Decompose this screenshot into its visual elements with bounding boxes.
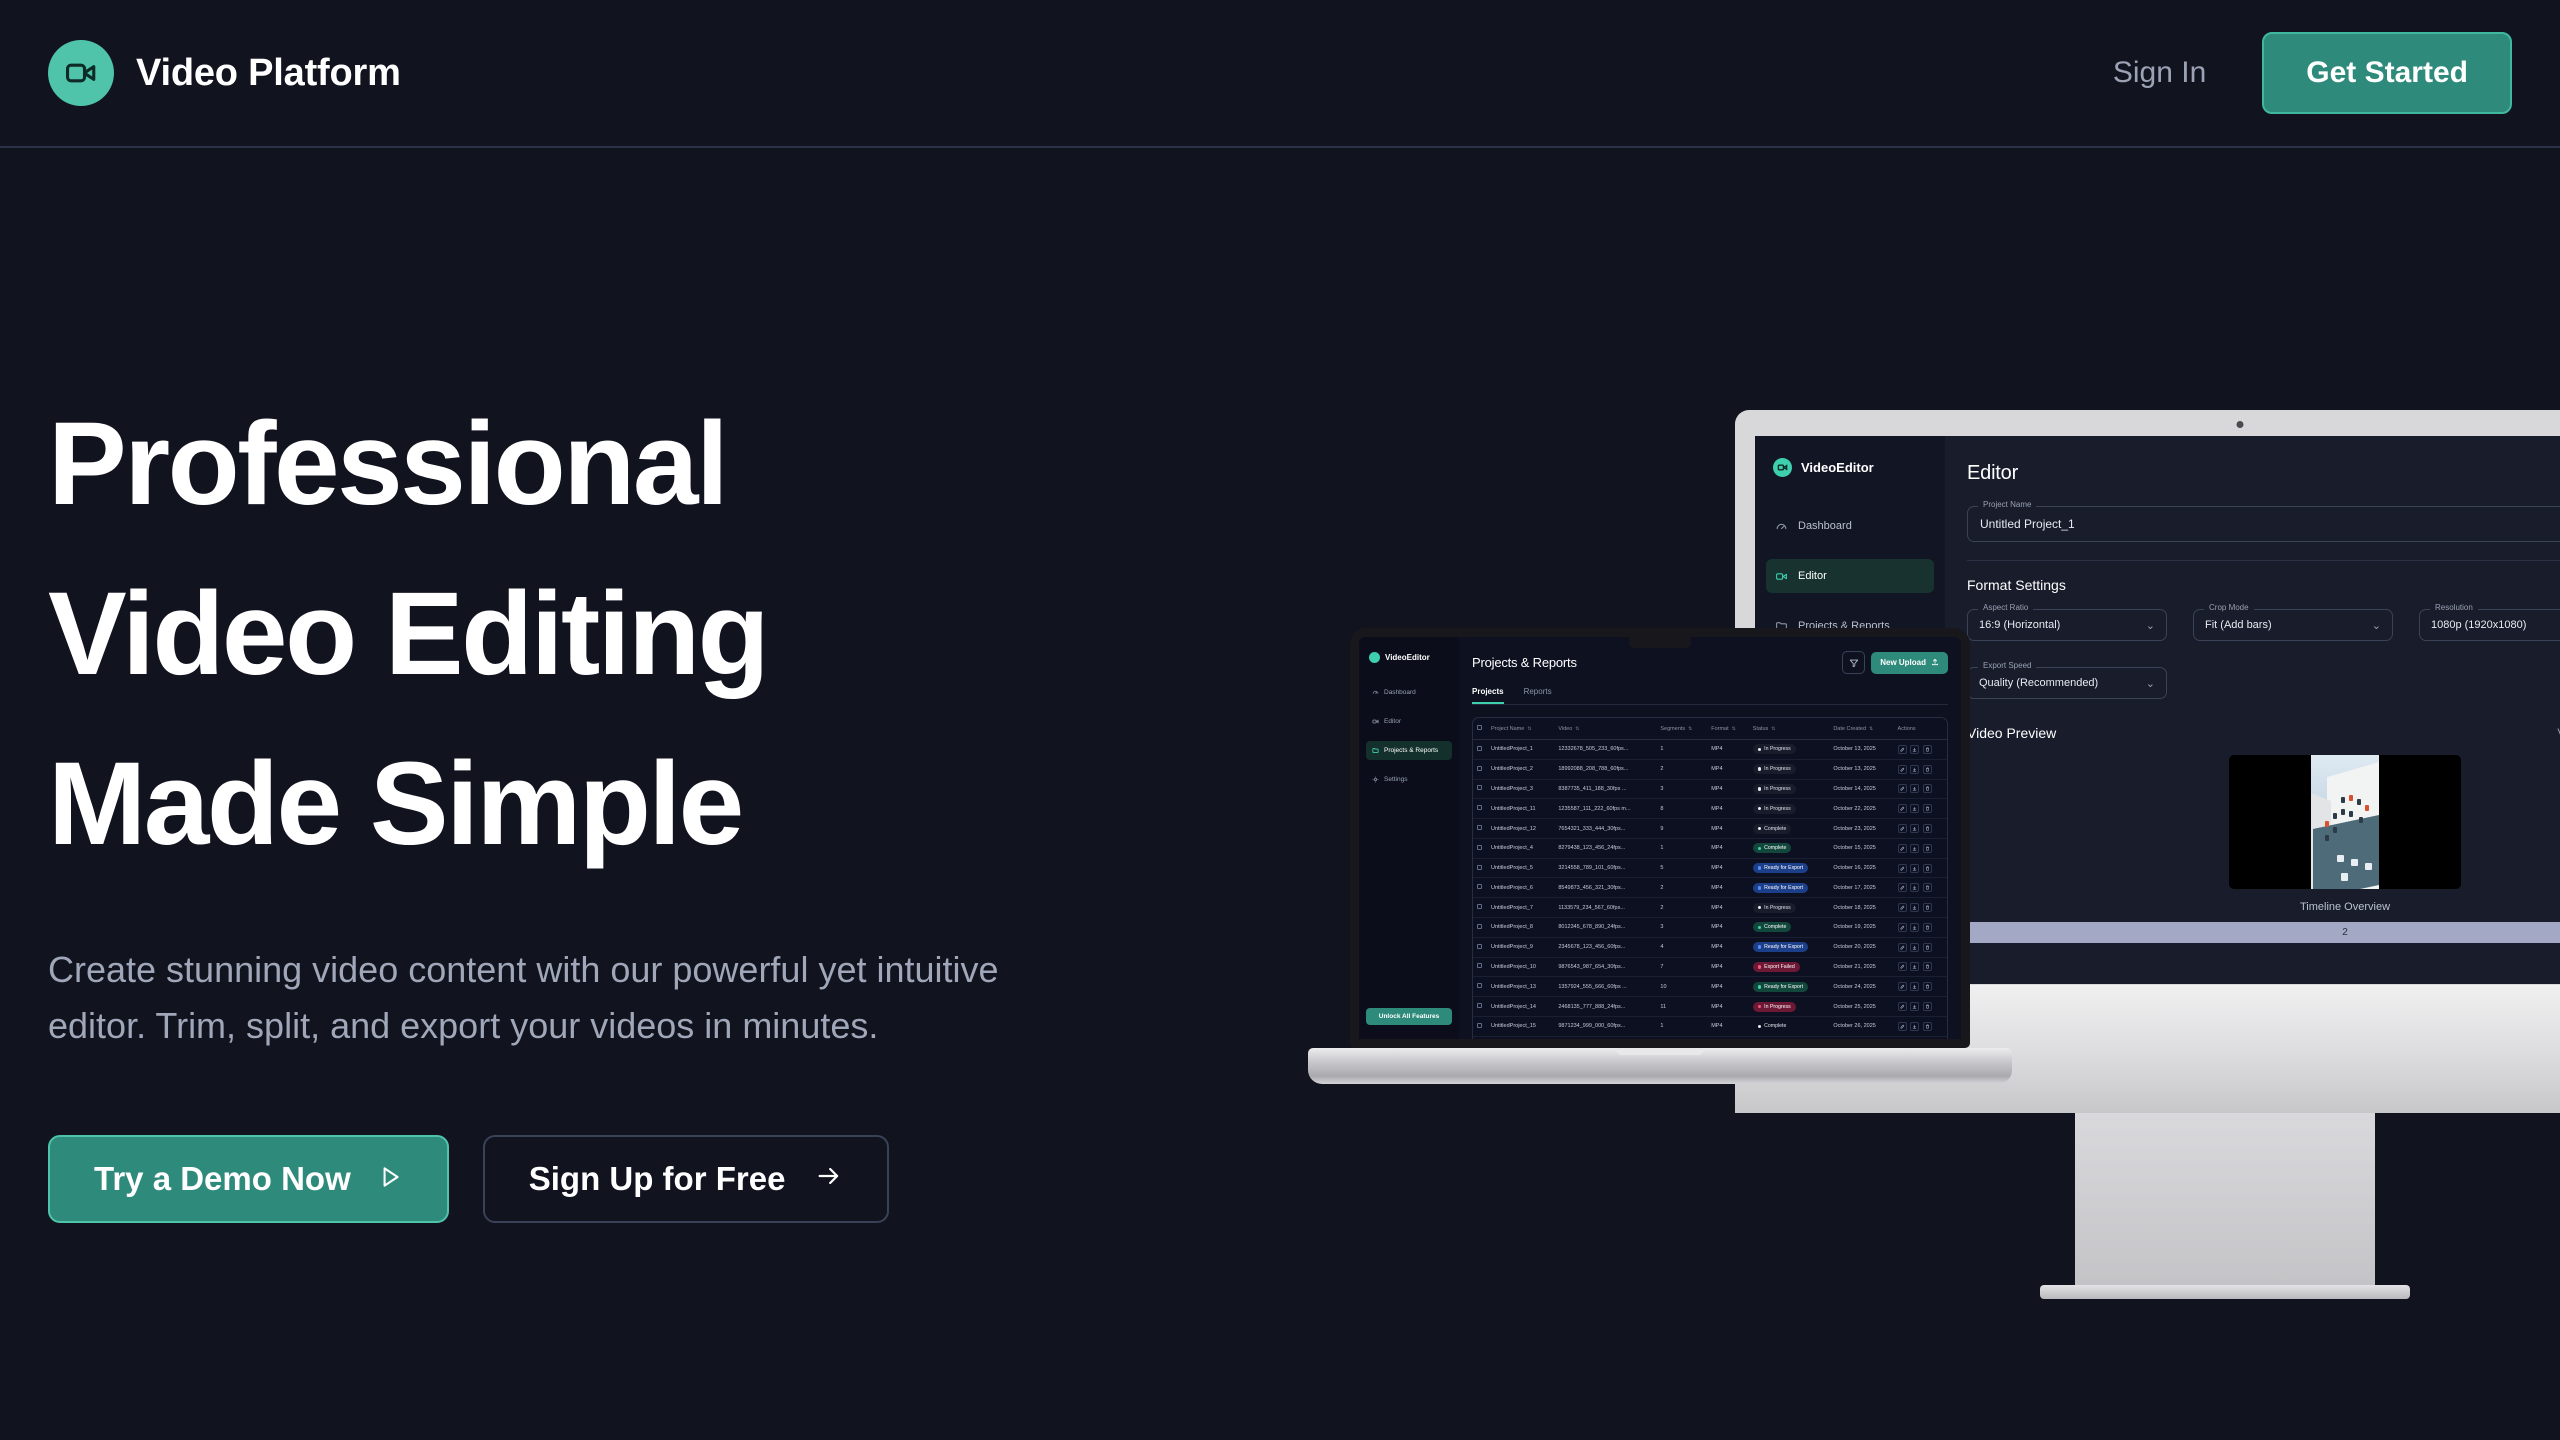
editor-brand: VideoEditor — [1755, 458, 1945, 477]
video-frame-thumbnail — [2311, 755, 2379, 889]
cell-video: 2468135_777_888_24fps... — [1554, 997, 1656, 1017]
projects-brand: VideoEditor — [1359, 652, 1459, 663]
status-badge: Ready for Export — [1753, 883, 1808, 893]
chevron-down-icon: ⌄ — [2146, 677, 2155, 690]
cell-segments: 1 — [1656, 1016, 1707, 1036]
delete-icon[interactable] — [1923, 943, 1932, 952]
cell-format: MP4 — [1707, 779, 1748, 799]
cell-format: MP4 — [1707, 937, 1748, 957]
cell-segments: 2 — [1656, 878, 1707, 898]
col-video[interactable]: Video⇅ — [1554, 718, 1656, 740]
checkbox-icon[interactable] — [1477, 725, 1482, 730]
cell-status: In Progress — [1749, 740, 1830, 760]
cell-date-created: October 15, 2025 — [1829, 838, 1893, 858]
delete-icon[interactable] — [1923, 844, 1932, 853]
checkbox-icon[interactable] — [1477, 845, 1482, 850]
cell-date-created: October 17, 2025 — [1829, 878, 1893, 898]
cell-project-name: UntitledProject_9 — [1487, 937, 1554, 957]
project-name-field[interactable]: Project Name Untitled Project_1 — [1967, 506, 2560, 542]
delete-icon[interactable] — [1923, 1022, 1932, 1031]
table-row[interactable]: UntitledProject_142468135_777_888_24fps.… — [1473, 997, 1947, 1017]
cell-segments: 11 — [1656, 997, 1707, 1017]
cell-actions — [1894, 740, 1947, 760]
download-icon[interactable] — [1910, 765, 1919, 774]
cell-video: 3214558_789_101_60fps... — [1554, 858, 1656, 878]
gauge-icon — [1372, 689, 1379, 696]
cell-date-created: October 16, 2025 — [1829, 858, 1893, 878]
play-icon — [377, 1160, 403, 1198]
table-row[interactable]: UntitledProject_218992088_208_788_60fps.… — [1473, 759, 1947, 779]
divider — [1967, 560, 2560, 561]
project-name-label: Project Name — [1978, 500, 2036, 509]
video-camera-icon — [1369, 652, 1380, 663]
cell-status: Complete — [1749, 838, 1830, 858]
row-checkbox-cell[interactable] — [1473, 1036, 1487, 1039]
row-checkbox-cell[interactable] — [1473, 918, 1487, 938]
cell-project-name: UntitledProject_16 — [1487, 1036, 1554, 1039]
cell-project-name: UntitledProject_8 — [1487, 918, 1554, 938]
delete-icon[interactable] — [1923, 745, 1932, 754]
download-icon[interactable] — [1910, 784, 1919, 793]
table-row[interactable]: UntitledProject_112332678_505_233_60fps.… — [1473, 740, 1947, 760]
format-settings-grid: Aspect Ratio 16:9 (Horizontal) ⌄ Crop Mo… — [1967, 609, 2560, 699]
table-row[interactable]: UntitledProject_88012345_678_890_24fps..… — [1473, 918, 1947, 938]
cell-format: MP4 — [1707, 740, 1748, 760]
cell-date-created: October 20, 2025 — [1829, 937, 1893, 957]
delete-icon[interactable] — [1923, 864, 1932, 873]
table-header-row: Project Name⇅ Video⇅ Segments⇅ Format⇅ S… — [1473, 718, 1947, 740]
tab-projects[interactable]: Projects — [1472, 687, 1504, 704]
download-icon[interactable] — [1910, 824, 1919, 833]
table-row[interactable]: UntitledProject_159871234_999_000_60fps.… — [1473, 1016, 1947, 1036]
table-row[interactable]: UntitledProject_111235587_111_222_60fps … — [1473, 799, 1947, 819]
cell-actions — [1894, 819, 1947, 839]
delete-icon[interactable] — [1923, 784, 1932, 793]
cell-actions — [1894, 1036, 1947, 1039]
download-icon[interactable] — [1910, 982, 1919, 991]
gauge-icon — [1775, 520, 1788, 533]
checkbox-icon[interactable] — [1477, 924, 1482, 929]
checkbox-icon[interactable] — [1477, 805, 1482, 810]
row-checkbox-cell[interactable] — [1473, 819, 1487, 839]
cell-date-created: October 21, 2025 — [1829, 957, 1893, 977]
checkbox-icon[interactable] — [1477, 884, 1482, 889]
sort-icon[interactable]: ⇅ — [1575, 726, 1579, 732]
checkbox-icon[interactable] — [1477, 746, 1482, 751]
download-icon[interactable] — [1910, 1022, 1919, 1031]
cell-format: MP4 — [1707, 878, 1748, 898]
arrow-right-icon — [815, 1160, 843, 1198]
cell-project-name: UntitledProject_11 — [1487, 799, 1554, 819]
status-badge: Complete — [1753, 922, 1792, 932]
checkbox-icon[interactable] — [1477, 1023, 1482, 1028]
edit-icon[interactable] — [1898, 824, 1907, 833]
site-header: Video Platform Sign In Get Started — [0, 0, 2560, 148]
resolution-label: Resolution — [2430, 603, 2478, 612]
status-badge: Export Failed — [1753, 962, 1800, 972]
sidebar-item-label: Dashboard — [1798, 520, 1852, 532]
cell-status: Complete — [1749, 1016, 1830, 1036]
cell-format: MP4 — [1707, 799, 1748, 819]
edit-icon[interactable] — [1898, 943, 1907, 952]
edit-icon[interactable] — [1898, 784, 1907, 793]
edit-icon[interactable] — [1898, 923, 1907, 932]
row-checkbox-cell[interactable] — [1473, 838, 1487, 858]
col-select-all[interactable] — [1473, 718, 1487, 740]
monitor-stand-neck — [2075, 1113, 2375, 1293]
brand-name: Video Platform — [136, 52, 401, 95]
cell-segments: 5 — [1656, 858, 1707, 878]
delete-icon[interactable] — [1923, 982, 1932, 991]
edit-icon[interactable] — [1898, 745, 1907, 754]
cell-project-name: UntitledProject_10 — [1487, 957, 1554, 977]
cell-format: MP4 — [1707, 1016, 1748, 1036]
cell-segments: 1 — [1656, 740, 1707, 760]
checkbox-icon[interactable] — [1477, 963, 1482, 968]
sort-icon[interactable]: ⇅ — [1688, 726, 1692, 732]
edit-icon[interactable] — [1898, 903, 1907, 912]
hero-subtitle-line-1: Create stunning video content with our p… — [48, 942, 1118, 998]
header-actions: Sign In Get Started — [2113, 32, 2512, 114]
delete-icon[interactable] — [1923, 883, 1932, 892]
download-icon[interactable] — [1910, 923, 1919, 932]
status-badge: Complete — [1753, 843, 1792, 853]
col-project-name[interactable]: Project Name⇅ — [1487, 718, 1554, 740]
sort-icon[interactable]: ⇅ — [1869, 726, 1873, 732]
sidebar-item-dashboard[interactable]: Dashboard — [1766, 509, 1934, 543]
sort-icon[interactable]: ⇅ — [1771, 726, 1775, 732]
projects-header-actions: New Upload — [1842, 651, 1948, 674]
brand[interactable]: Video Platform — [48, 40, 401, 106]
edit-icon[interactable] — [1898, 844, 1907, 853]
hero-subtitle: Create stunning video content with our p… — [48, 942, 1118, 1054]
projects-app-screen: VideoEditor Dashboard Editor — [1359, 637, 1961, 1039]
cell-date-created: October 27, 2025 — [1829, 1036, 1893, 1039]
cell-video: 7654321_333_444_30fps... — [1554, 819, 1656, 839]
video-camera-icon — [1773, 458, 1792, 477]
table-header: Project Name⇅ Video⇅ Segments⇅ Format⇅ S… — [1473, 718, 1947, 740]
download-icon[interactable] — [1910, 1002, 1919, 1011]
table-row[interactable]: UntitledProject_53214558_789_101_60fps..… — [1473, 858, 1947, 878]
tab-reports[interactable]: Reports — [1524, 687, 1552, 704]
download-icon[interactable] — [1910, 804, 1919, 813]
cell-date-created: October 13, 2025 — [1829, 740, 1893, 760]
table-row[interactable]: UntitledProject_68549873_456_321_30fps..… — [1473, 878, 1947, 898]
row-checkbox-cell[interactable] — [1473, 957, 1487, 977]
cell-video: 8387735_411_188_30fps ... — [1554, 779, 1656, 799]
status-badge: Ready for Export — [1753, 982, 1808, 992]
status-badge: In Progress — [1753, 764, 1796, 774]
checkbox-icon[interactable] — [1477, 904, 1482, 909]
download-icon[interactable] — [1910, 883, 1919, 892]
cell-format: MP4 — [1707, 957, 1748, 977]
table-row[interactable]: UntitledProject_127654321_333_444_30fps.… — [1473, 819, 1947, 839]
sidebar-item-label: Dashboard — [1384, 689, 1416, 696]
checkbox-icon[interactable] — [1477, 865, 1482, 870]
get-started-button[interactable]: Get Started — [2262, 32, 2512, 114]
cell-project-name: UntitledProject_2 — [1487, 759, 1554, 779]
sidebar-item-editor[interactable]: Editor — [1766, 559, 1934, 593]
hero-title-line-1: Professional — [48, 380, 1228, 550]
hero-cta-group: Try a Demo Now Sign Up for Free — [48, 1135, 1228, 1223]
cell-status: Complete — [1749, 918, 1830, 938]
cell-format: MP4 — [1707, 838, 1748, 858]
row-checkbox-cell[interactable] — [1473, 799, 1487, 819]
cell-actions — [1894, 759, 1947, 779]
cell-status: In Progress — [1749, 759, 1830, 779]
row-checkbox-cell[interactable] — [1473, 997, 1487, 1017]
cell-actions — [1894, 1016, 1947, 1036]
product-mockup: VideoEditor Dashboard Editor — [1350, 380, 2560, 1260]
cell-segments: 2 — [1656, 759, 1707, 779]
delete-icon[interactable] — [1923, 804, 1932, 813]
col-segments[interactable]: Segments⇅ — [1656, 718, 1707, 740]
sign-in-link[interactable]: Sign In — [2113, 56, 2206, 90]
col-actions: Actions — [1894, 718, 1947, 740]
sign-up-button[interactable]: Sign Up for Free — [483, 1135, 890, 1223]
cell-video: 18992088_208_788_60fps... — [1554, 759, 1656, 779]
projects-brand-name: VideoEditor — [1385, 653, 1430, 662]
delete-icon[interactable] — [1923, 923, 1932, 932]
cell-project-name: UntitledProject_7 — [1487, 898, 1554, 918]
cell-date-created: October 24, 2025 — [1829, 977, 1893, 997]
projects-nav: Dashboard Editor Projects & Reports — [1359, 683, 1459, 789]
row-checkbox-cell[interactable] — [1473, 977, 1487, 997]
table-row[interactable]: UntitledProject_71133579_234_567_60fps..… — [1473, 898, 1947, 918]
cell-date-created: October 26, 2025 — [1829, 1016, 1893, 1036]
status-badge: In Progress — [1753, 784, 1796, 794]
monitor-camera-icon — [2237, 421, 2244, 428]
table-row[interactable]: UntitledProject_109876543_987_654_30fps.… — [1473, 957, 1947, 977]
cell-video: 12332678_505_233_60fps... — [1554, 740, 1656, 760]
resolution-value: 1080p (1920x1080) — [2431, 619, 2526, 631]
cell-segments: 3 — [1656, 918, 1707, 938]
new-upload-button[interactable]: New Upload — [1871, 652, 1948, 674]
row-checkbox-cell[interactable] — [1473, 759, 1487, 779]
row-checkbox-cell[interactable] — [1473, 898, 1487, 918]
try-demo-label: Try a Demo Now — [94, 1160, 351, 1198]
format-settings-title: Format Settings — [1967, 577, 2560, 593]
cell-date-created: October 22, 2025 — [1829, 799, 1893, 819]
cell-format: MP4 — [1707, 898, 1748, 918]
cell-actions — [1894, 858, 1947, 878]
cell-date-created: October 23, 2025 — [1829, 819, 1893, 839]
delete-icon[interactable] — [1923, 903, 1932, 912]
laptop-camera-notch — [1629, 637, 1691, 648]
cell-video: 1133579_234_567_60fps... — [1554, 898, 1656, 918]
cell-format: MP4 — [1707, 759, 1748, 779]
projects-table-wrapper: Project Name⇅ Video⇅ Segments⇅ Format⇅ S… — [1472, 717, 1948, 1039]
status-badge: In Progress — [1753, 804, 1796, 814]
timeline-overview-label: Timeline Overview — [1967, 901, 2560, 913]
cell-segments: 10 — [1656, 977, 1707, 997]
cell-actions — [1894, 898, 1947, 918]
row-checkbox-cell[interactable] — [1473, 858, 1487, 878]
edit-icon[interactable] — [1898, 962, 1907, 971]
status-badge: Ready for Export — [1753, 863, 1808, 873]
cell-video: 8549873_456_321_30fps... — [1554, 878, 1656, 898]
table-body: UntitledProject_112332678_505_233_60fps.… — [1473, 740, 1947, 1040]
video-preview-header: Video Preview Video player size — [1967, 725, 2560, 741]
sidebar-item-dashboard[interactable]: Dashboard — [1366, 683, 1452, 702]
table-row[interactable]: UntitledProject_131357924_555_666_60fps … — [1473, 977, 1947, 997]
table-row[interactable]: UntitledProject_48279438_123_456_24fps..… — [1473, 838, 1947, 858]
sidebar-item-label: Settings — [1384, 776, 1408, 783]
cell-project-name: UntitledProject_14 — [1487, 997, 1554, 1017]
laptop-base-notch — [1616, 1048, 1704, 1055]
delete-icon[interactable] — [1923, 962, 1932, 971]
sidebar-item-settings[interactable]: Settings — [1366, 770, 1452, 789]
cell-project-name: UntitledProject_3 — [1487, 779, 1554, 799]
sign-up-label: Sign Up for Free — [529, 1160, 786, 1198]
chevron-down-icon: ⌄ — [2146, 619, 2155, 632]
download-icon[interactable] — [1910, 745, 1919, 754]
checkbox-icon[interactable] — [1477, 1003, 1482, 1008]
page-title: Professional Video Editing Made Simple — [48, 380, 1228, 890]
cell-status: Ready for Export — [1749, 878, 1830, 898]
sidebar-item-projects-reports[interactable]: Projects & Reports — [1366, 741, 1452, 760]
cell-project-name: UntitledProject_13 — [1487, 977, 1554, 997]
download-icon[interactable] — [1910, 844, 1919, 853]
edit-icon[interactable] — [1898, 883, 1907, 892]
project-name-input[interactable]: Untitled Project_1 — [1967, 506, 2560, 542]
table-row[interactable]: UntitledProject_92345678_123_456_60fps..… — [1473, 937, 1947, 957]
row-checkbox-cell[interactable] — [1473, 878, 1487, 898]
cell-segments: 1 — [1656, 838, 1707, 858]
download-icon[interactable] — [1910, 903, 1919, 912]
cell-status: In Progress — [1749, 997, 1830, 1017]
cell-date-created: October 14, 2025 — [1829, 779, 1893, 799]
crop-mode-label: Crop Mode — [2204, 603, 2254, 612]
cell-segments: 4 — [1656, 937, 1707, 957]
cell-video: 9871234_999_000_60fps... — [1554, 1016, 1656, 1036]
cell-actions — [1894, 878, 1947, 898]
status-badge: Ready for Export — [1753, 942, 1808, 952]
hero-section: Professional Video Editing Made Simple C… — [48, 380, 1228, 1223]
row-checkbox-cell[interactable] — [1473, 1016, 1487, 1036]
sort-icon[interactable]: ⇅ — [1527, 726, 1531, 732]
delete-icon[interactable] — [1923, 824, 1932, 833]
video-player-preview[interactable] — [2229, 755, 2461, 889]
cell-actions — [1894, 937, 1947, 957]
cell-format: MP4 — [1707, 1036, 1748, 1039]
download-icon[interactable] — [1910, 943, 1919, 952]
sort-icon[interactable]: ⇅ — [1732, 726, 1736, 732]
cell-actions — [1894, 918, 1947, 938]
unlock-all-features-button[interactable]: Unlock All Features — [1366, 1008, 1452, 1025]
edit-icon[interactable] — [1898, 804, 1907, 813]
col-status[interactable]: Status⇅ — [1749, 718, 1830, 740]
cell-project-name: UntitledProject_15 — [1487, 1016, 1554, 1036]
checkbox-icon[interactable] — [1477, 983, 1482, 988]
projects-page-title: Projects & Reports — [1472, 655, 1577, 670]
cell-status: In Progress — [1749, 799, 1830, 819]
status-badge: Complete — [1753, 824, 1792, 834]
download-icon[interactable] — [1910, 962, 1919, 971]
col-date-created[interactable]: Date Created⇅ — [1829, 718, 1893, 740]
cell-status: Ready for Export — [1749, 937, 1830, 957]
table-row[interactable]: UntitledProject_38387735_411_188_30fps .… — [1473, 779, 1947, 799]
cell-date-created: October 25, 2025 — [1829, 997, 1893, 1017]
sidebar-item-editor[interactable]: Editor — [1366, 712, 1452, 731]
status-badge: In Progress — [1753, 903, 1796, 913]
crop-mode-select[interactable]: Crop Mode Fit (Add bars) ⌄ — [2193, 609, 2393, 641]
video-camera-icon — [1775, 570, 1788, 583]
status-badge: In Progress — [1753, 744, 1796, 754]
cell-segments: 13 — [1656, 1036, 1707, 1039]
projects-main: Projects & Reports New Upload — [1459, 637, 1961, 1039]
cell-video: 9876543_987_654_30fps... — [1554, 957, 1656, 977]
row-checkbox-cell[interactable] — [1473, 779, 1487, 799]
laptop-device: VideoEditor Dashboard Editor — [1350, 628, 2050, 1048]
cell-video: 8279438_123_456_24fps... — [1554, 838, 1656, 858]
projects-tabs: Projects Reports — [1472, 687, 1948, 705]
laptop-base — [1308, 1048, 2012, 1084]
delete-icon[interactable] — [1923, 765, 1932, 774]
col-format[interactable]: Format⇅ — [1707, 718, 1748, 740]
edit-icon[interactable] — [1898, 982, 1907, 991]
cell-segments: 3 — [1656, 779, 1707, 799]
projects-sidebar: VideoEditor Dashboard Editor — [1359, 637, 1459, 1039]
cell-project-name: UntitledProject_4 — [1487, 838, 1554, 858]
delete-icon[interactable] — [1923, 1002, 1932, 1011]
cell-format: MP4 — [1707, 858, 1748, 878]
download-icon[interactable] — [1910, 864, 1919, 873]
cell-project-name: UntitledProject_6 — [1487, 878, 1554, 898]
editor-topbar: Editor Save Exp — [1967, 456, 2560, 490]
video-camera-icon — [1372, 718, 1379, 725]
checkbox-icon[interactable] — [1477, 785, 1482, 790]
edit-icon[interactable] — [1898, 1022, 1907, 1031]
cell-video: 1235587_111_222_60fps m... — [1554, 799, 1656, 819]
edit-icon[interactable] — [1898, 765, 1907, 774]
cell-segments: 7 — [1656, 957, 1707, 977]
cell-status: Complete — [1749, 819, 1830, 839]
sidebar-item-label: Projects & Reports — [1384, 747, 1438, 754]
upload-icon — [1931, 658, 1939, 668]
chevron-down-icon: ⌄ — [2372, 619, 2381, 632]
hero-title-line-2: Video Editing — [48, 550, 1228, 720]
filter-icon[interactable] — [1842, 651, 1865, 674]
row-checkbox-cell[interactable] — [1473, 740, 1487, 760]
cell-video: 2345678_123_456_60fps... — [1554, 937, 1656, 957]
edit-icon[interactable] — [1898, 864, 1907, 873]
cell-video: 1239876_123_456_30fps... — [1554, 1036, 1656, 1039]
cell-status: In Progress — [1749, 779, 1830, 799]
table-row[interactable]: UntitledProject_161239876_123_456_30fps.… — [1473, 1036, 1947, 1039]
sidebar-item-label: Editor — [1798, 570, 1827, 582]
checkbox-icon[interactable] — [1477, 944, 1482, 949]
cell-status: Ready for Export — [1749, 858, 1830, 878]
cell-status: In Progress — [1749, 898, 1830, 918]
new-upload-label: New Upload — [1880, 658, 1926, 667]
edit-icon[interactable] — [1898, 1002, 1907, 1011]
checkbox-icon[interactable] — [1477, 766, 1482, 771]
cell-format: MP4 — [1707, 977, 1748, 997]
editor-page-title: Editor — [1967, 462, 2018, 485]
hero-title-line-3: Made Simple — [48, 720, 1228, 890]
crop-mode-value: Fit (Add bars) — [2205, 619, 2272, 631]
checkbox-icon[interactable] — [1477, 825, 1482, 830]
row-checkbox-cell[interactable] — [1473, 937, 1487, 957]
cell-segments: 8 — [1656, 799, 1707, 819]
hero-subtitle-line-2: editor. Trim, split, and export your vid… — [48, 998, 1118, 1054]
resolution-select[interactable]: Resolution 1080p (1920x1080) ⌄ — [2419, 609, 2560, 641]
cell-actions — [1894, 997, 1947, 1017]
cell-date-created: October 13, 2025 — [1829, 759, 1893, 779]
cell-date-created: October 18, 2025 — [1829, 898, 1893, 918]
try-demo-button[interactable]: Try a Demo Now — [48, 1135, 449, 1223]
